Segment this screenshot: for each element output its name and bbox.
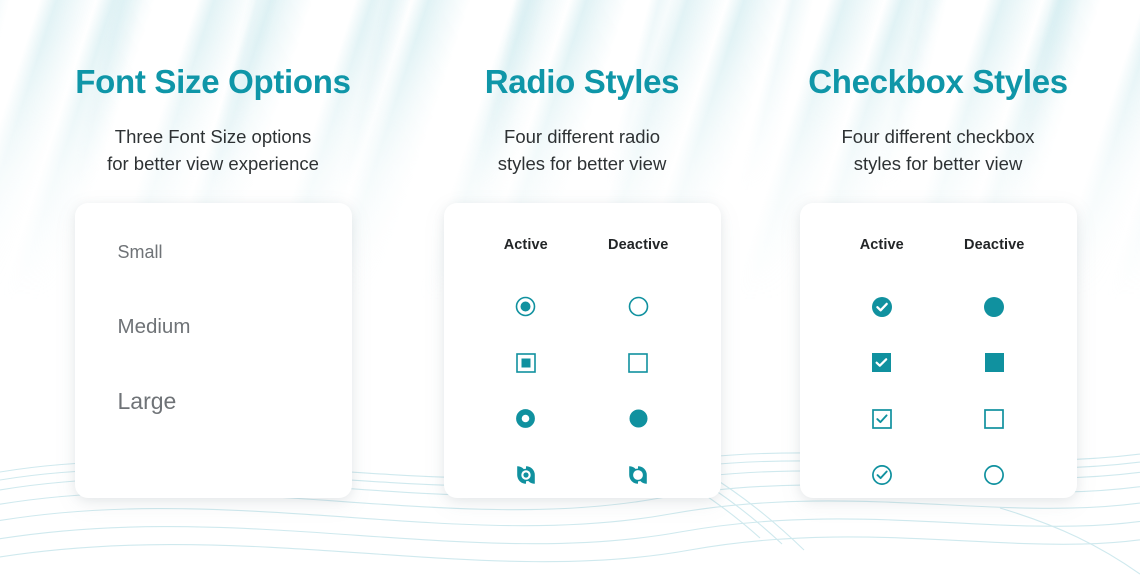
checkbox-style-row-1 bbox=[800, 279, 1077, 335]
subtitle-line-1: Four different radio bbox=[504, 126, 660, 147]
square-outline-icon[interactable] bbox=[984, 409, 1004, 429]
radio-style-row-4 bbox=[444, 447, 721, 503]
radio-style-1-active-cell bbox=[470, 279, 583, 335]
radio-circle-solid-icon[interactable] bbox=[629, 409, 648, 428]
checkbox-styles-card: Active Deactive bbox=[800, 203, 1077, 498]
radio-style-4-deactive-cell bbox=[582, 447, 695, 503]
radio-style-4-active-cell bbox=[470, 447, 583, 503]
radio-style-row-3 bbox=[444, 391, 721, 447]
radio-style-2-active-cell bbox=[470, 335, 583, 391]
radio-leaf-dot-icon[interactable] bbox=[515, 464, 537, 486]
font-size-option-large[interactable]: Large bbox=[118, 390, 352, 413]
page-title-checkbox-styles: Checkbox Styles bbox=[808, 64, 1068, 100]
panel-checkbox-styles: Checkbox Styles Four different checkbox … bbox=[760, 0, 1116, 578]
font-size-option-small[interactable]: Small bbox=[118, 243, 352, 261]
column-header-active: Active bbox=[826, 237, 939, 253]
radio-circle-outline-icon[interactable] bbox=[628, 296, 649, 317]
radio-style-row-2 bbox=[444, 335, 721, 391]
square-solid-icon[interactable] bbox=[985, 353, 1004, 372]
radio-styles-card: Active Deactive bbox=[444, 203, 721, 498]
checkbox-style-4-active-cell bbox=[826, 447, 939, 503]
panel-radio-styles: Radio Styles Four different radio styles… bbox=[404, 0, 760, 578]
check-square-outline-icon[interactable] bbox=[872, 409, 892, 429]
panel-font-size-options: Font Size Options Three Font Size option… bbox=[22, 0, 404, 578]
radio-circle-dot-icon[interactable] bbox=[515, 296, 536, 317]
checkbox-style-2-deactive-cell bbox=[938, 335, 1051, 391]
checkbox-style-1-active-cell bbox=[826, 279, 939, 335]
subtitle-radio-styles: Four different radio styles for better v… bbox=[498, 124, 667, 177]
column-header-active: Active bbox=[470, 237, 583, 253]
check-circle-outline-icon[interactable] bbox=[872, 465, 892, 485]
subtitle-checkbox-styles: Four different checkbox styles for bette… bbox=[842, 124, 1035, 177]
circle-outline-icon[interactable] bbox=[984, 465, 1004, 485]
radio-style-row-1 bbox=[444, 279, 721, 335]
radio-style-3-deactive-cell bbox=[582, 391, 695, 447]
radio-style-2-deactive-cell bbox=[582, 335, 695, 391]
subtitle-line-2: styles for better view bbox=[498, 153, 667, 174]
checkbox-column-headers: Active Deactive bbox=[800, 237, 1077, 253]
checkbox-style-row-3 bbox=[800, 391, 1077, 447]
subtitle-line-1: Four different checkbox bbox=[842, 126, 1035, 147]
radio-square-filled-icon[interactable] bbox=[516, 353, 536, 373]
radio-style-1-deactive-cell bbox=[582, 279, 695, 335]
subtitle-line-2: for better view experience bbox=[107, 153, 319, 174]
radio-style-3-active-cell bbox=[470, 391, 583, 447]
page-title-font-size: Font Size Options bbox=[75, 64, 350, 100]
checkbox-style-2-active-cell bbox=[826, 335, 939, 391]
check-circle-filled-icon[interactable] bbox=[872, 297, 892, 317]
panels-container: Font Size Options Three Font Size option… bbox=[0, 0, 1140, 578]
font-size-option-medium[interactable]: Medium bbox=[118, 317, 352, 338]
radio-leaf-outline-icon[interactable] bbox=[627, 464, 649, 486]
check-square-filled-icon[interactable] bbox=[872, 353, 891, 372]
column-header-deactive: Deactive bbox=[582, 237, 695, 253]
checkbox-style-1-deactive-cell bbox=[938, 279, 1051, 335]
radio-donut-icon[interactable] bbox=[516, 409, 535, 428]
subtitle-font-size: Three Font Size options for better view … bbox=[107, 124, 319, 177]
checkbox-style-3-deactive-cell bbox=[938, 391, 1051, 447]
subtitle-line-2: styles for better view bbox=[854, 153, 1023, 174]
font-size-card: Small Medium Large bbox=[75, 203, 352, 498]
radio-column-headers: Active Deactive bbox=[444, 237, 721, 253]
checkbox-style-row-2 bbox=[800, 335, 1077, 391]
subtitle-line-1: Three Font Size options bbox=[115, 126, 311, 147]
page-title-radio-styles: Radio Styles bbox=[485, 64, 679, 100]
radio-square-outline-icon[interactable] bbox=[628, 353, 648, 373]
checkbox-style-row-4 bbox=[800, 447, 1077, 503]
checkbox-style-4-deactive-cell bbox=[938, 447, 1051, 503]
circle-solid-icon[interactable] bbox=[984, 297, 1004, 317]
column-header-deactive: Deactive bbox=[938, 237, 1051, 253]
checkbox-style-3-active-cell bbox=[826, 391, 939, 447]
